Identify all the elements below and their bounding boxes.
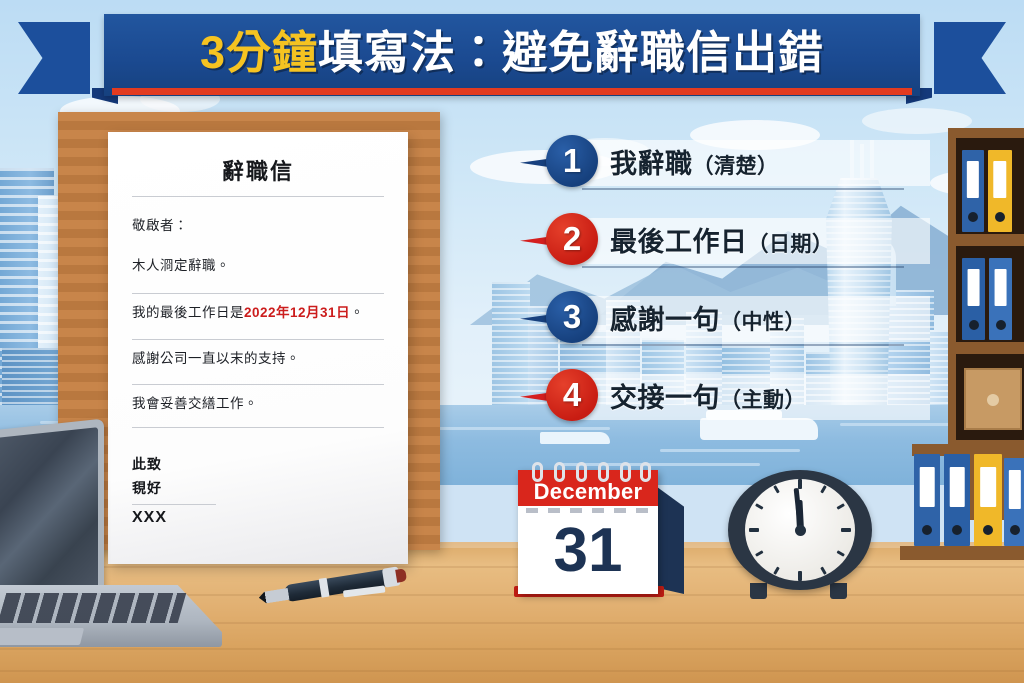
letter-salutation: 敬啟者： bbox=[132, 217, 384, 235]
letter-title: 辭職信 bbox=[132, 154, 384, 186]
step-label: 我辭職 bbox=[610, 149, 693, 179]
letter-divider bbox=[132, 196, 384, 197]
banner-plate: 3分鐘填寫法：避免辭職信出錯 bbox=[104, 14, 920, 96]
infographic-canvas: 辭職信 敬啟者： 木人浻定辭職。 我的最後工作日是2022年12月31日。 感謝… bbox=[0, 0, 1024, 683]
binder bbox=[974, 454, 1002, 546]
step-note: （主動） bbox=[720, 389, 806, 412]
step-note: （清楚） bbox=[693, 155, 779, 178]
letter-divider bbox=[132, 339, 384, 340]
laptop-lid bbox=[0, 419, 104, 612]
step-item[interactable]: 1 我辭職（清楚） bbox=[524, 134, 924, 212]
shelf-plank bbox=[900, 546, 1024, 560]
step-underline bbox=[582, 188, 904, 190]
step-badge: 4 bbox=[546, 369, 598, 421]
banner-underline bbox=[112, 88, 912, 95]
step-note: （日期） bbox=[748, 233, 834, 256]
title-highlight: 3分鐘 bbox=[200, 27, 318, 78]
letter-divider bbox=[132, 384, 384, 385]
calendar-ring-icon bbox=[576, 462, 587, 482]
calendar-month: December bbox=[534, 481, 643, 506]
lower-shelf bbox=[900, 432, 1024, 560]
desk-calendar: December 31 bbox=[512, 462, 688, 597]
clock-face bbox=[745, 479, 855, 581]
step-badge: 1 bbox=[546, 135, 598, 187]
ribbon-tail-left bbox=[18, 22, 90, 94]
lastday-date: 2022年12月31日 bbox=[244, 305, 350, 320]
letter-line-lastday: 我的最後工作日是2022年12月31日。 bbox=[132, 304, 384, 322]
desk-clock bbox=[722, 470, 878, 602]
step-item[interactable]: 3 感謝一句（中性） bbox=[524, 290, 924, 368]
step-text: 感謝一句（中性） bbox=[610, 298, 806, 337]
laptop-trackpad bbox=[0, 628, 84, 645]
binder bbox=[1004, 458, 1024, 546]
letter-divider bbox=[132, 293, 384, 294]
calendar-ring-icon bbox=[620, 462, 631, 482]
title-rest: 填寫法：避免辭職信出錯 bbox=[318, 27, 824, 78]
step-note: （中性） bbox=[720, 311, 806, 334]
step-underline bbox=[582, 266, 904, 268]
clock-center-pin bbox=[795, 525, 806, 536]
step-label: 交接一句 bbox=[610, 383, 720, 413]
lastday-suffix: 。 bbox=[350, 305, 364, 320]
laptop-keyboard bbox=[0, 593, 186, 623]
title-banner: 3分鐘填寫法：避免辭職信出錯 bbox=[0, 14, 1024, 106]
laptop bbox=[0, 425, 252, 670]
letter-line-resign: 木人浻定辭職。 bbox=[132, 257, 384, 275]
step-label: 感謝一句 bbox=[610, 305, 720, 335]
step-item[interactable]: 2 最後工作日（日期） bbox=[524, 212, 924, 290]
binder bbox=[989, 258, 1012, 340]
pen-end-cap bbox=[395, 568, 407, 582]
laptop-screen bbox=[0, 427, 98, 601]
calendar-ring-icon bbox=[554, 462, 565, 482]
step-label: 最後工作日 bbox=[610, 227, 748, 257]
clock-foot bbox=[830, 583, 847, 599]
pen-tip bbox=[258, 588, 290, 605]
clock-body bbox=[728, 470, 872, 590]
binder bbox=[962, 258, 985, 340]
step-badge: 3 bbox=[546, 291, 598, 343]
letter-line-thanks: 感謝公司一直以末的支持。 bbox=[132, 350, 384, 368]
page-title: 3分鐘填寫法：避免辭職信出錯 bbox=[200, 30, 824, 81]
binder bbox=[962, 150, 984, 232]
ribbon-tail-right bbox=[934, 22, 1006, 94]
lastday-prefix: 我的最後工作日是 bbox=[132, 305, 244, 320]
calendar-front: December 31 bbox=[518, 470, 658, 594]
step-underline bbox=[582, 344, 904, 346]
calendar-ring-icon bbox=[598, 462, 609, 482]
storage-box bbox=[964, 368, 1022, 430]
letter-line-handover: 我會妥善交繕工作。 bbox=[132, 395, 384, 413]
step-badge: 2 bbox=[546, 213, 598, 265]
calendar-ring-icon bbox=[532, 462, 543, 482]
calendar-ring-icon bbox=[640, 462, 651, 482]
calendar-day: 31 bbox=[518, 508, 658, 594]
step-text: 交接一句（主動） bbox=[610, 376, 806, 415]
steps-list: 1 我辭職（清楚） 2 最後工作日（日期） 3 感謝一句（中性） 4 交接一句（… bbox=[524, 134, 924, 446]
step-text: 我辭職（清楚） bbox=[610, 142, 779, 181]
step-item[interactable]: 4 交接一句（主動） bbox=[524, 368, 924, 446]
binder bbox=[914, 454, 940, 546]
clock-foot bbox=[750, 583, 767, 599]
binder bbox=[944, 454, 970, 546]
step-text: 最後工作日（日期） bbox=[610, 220, 834, 259]
binder bbox=[988, 150, 1012, 232]
